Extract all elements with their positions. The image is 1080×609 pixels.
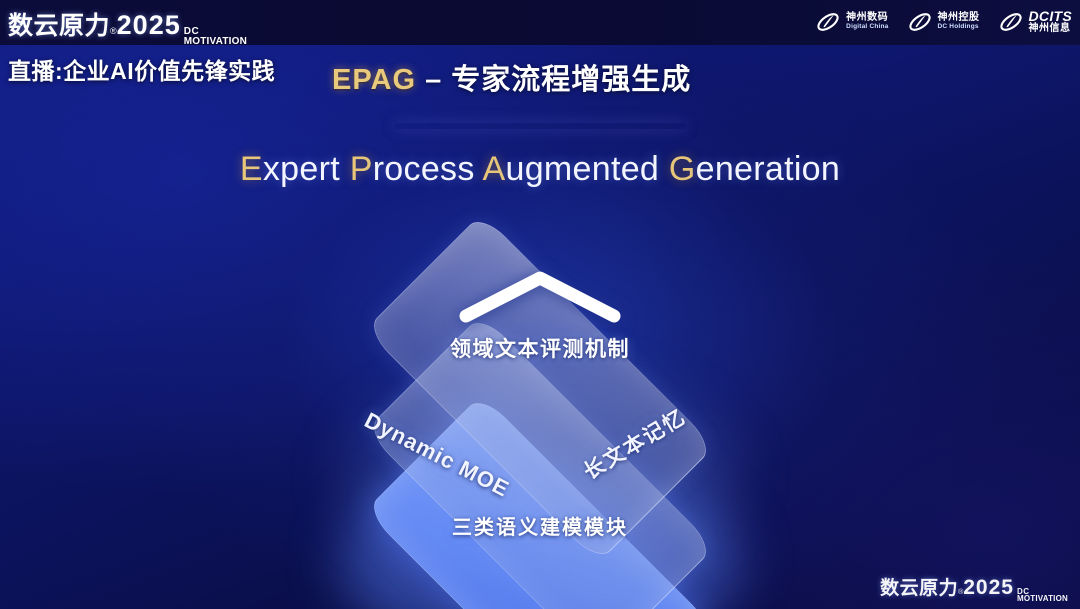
swoosh-icon bbox=[998, 9, 1024, 35]
subtitle-initial-a: A bbox=[483, 150, 506, 188]
layered-architecture-diagram: 领域文本评测机制 Dynamic MOE 长文本记忆 三类语义建模模块 bbox=[0, 226, 1080, 576]
page-title: EPAG – 专家流程增强生成 bbox=[332, 56, 691, 98]
brand-year: 2025 bbox=[117, 10, 181, 41]
chevron-up-icon bbox=[452, 266, 628, 328]
registered-mark: ® bbox=[110, 26, 117, 36]
brand-name-cn: 数云原力 bbox=[8, 6, 110, 42]
title-cn: 专家流程增强生成 bbox=[451, 64, 691, 96]
partner-text: DCITS 神州信息 bbox=[1029, 9, 1073, 34]
partner-dc-holdings: 神州控股 DC Holdings bbox=[907, 9, 980, 35]
partner-name-en: DCITS bbox=[1029, 9, 1073, 24]
presentation-slide: 数云原力 ® 2025 DC MOTIVATION 神州数码 Digital C… bbox=[0, 0, 1080, 609]
partner-name-cn: 神州信息 bbox=[1029, 24, 1073, 35]
layer-label-bottom: 三类语义建模模块 bbox=[0, 511, 1080, 540]
brand-dc-motivation: DC MOTIVATION bbox=[184, 27, 247, 46]
brand-logo: 数云原力 ® 2025 DC MOTIVATION bbox=[8, 6, 247, 46]
subtitle-word-augmented: ugmented bbox=[506, 150, 660, 188]
subtitle-initial-g: G bbox=[669, 150, 696, 188]
layer-label-top: 领域文本评测机制 bbox=[0, 333, 1080, 363]
gradient-divider bbox=[394, 123, 686, 129]
brand-motivation: MOTIVATION bbox=[184, 37, 247, 47]
partner-logos: 神州数码 Digital China 神州控股 DC Holdings bbox=[815, 5, 1072, 39]
live-stream-title: 直播:企业AI价值先锋实践 bbox=[8, 52, 275, 86]
partner-text: 神州数码 Digital China bbox=[846, 13, 888, 30]
partner-dcits: DCITS 神州信息 bbox=[998, 9, 1073, 35]
subtitle-initial-e: E bbox=[240, 150, 263, 188]
brand-watermark: 数云原力 ® 2025 DC MOTIVATION bbox=[880, 573, 1068, 603]
swoosh-icon bbox=[815, 9, 841, 35]
partner-digital-china: 神州数码 Digital China bbox=[815, 9, 888, 35]
title-acronym: EPAG bbox=[332, 64, 416, 96]
partner-name-en: Digital China bbox=[846, 24, 888, 31]
partner-name-en: DC Holdings bbox=[938, 24, 980, 31]
watermark-name-cn: 数云原力 bbox=[880, 573, 958, 600]
subtitle-word-expert: xpert bbox=[263, 150, 340, 188]
watermark-year: 2025 bbox=[963, 576, 1014, 600]
watermark-dc-motivation: DC MOTIVATION bbox=[1017, 588, 1068, 603]
watermark-motivation: MOTIVATION bbox=[1017, 595, 1068, 603]
subtitle-initial-p: P bbox=[350, 150, 373, 188]
partner-text: 神州控股 DC Holdings bbox=[938, 13, 980, 30]
swoosh-icon bbox=[907, 9, 933, 35]
subtitle-word-process: rocess bbox=[373, 150, 475, 188]
title-separator: – bbox=[416, 64, 451, 96]
subtitle-word-generation: eneration bbox=[696, 150, 840, 188]
subtitle: Expert Process Augmented Generation bbox=[0, 150, 1080, 189]
